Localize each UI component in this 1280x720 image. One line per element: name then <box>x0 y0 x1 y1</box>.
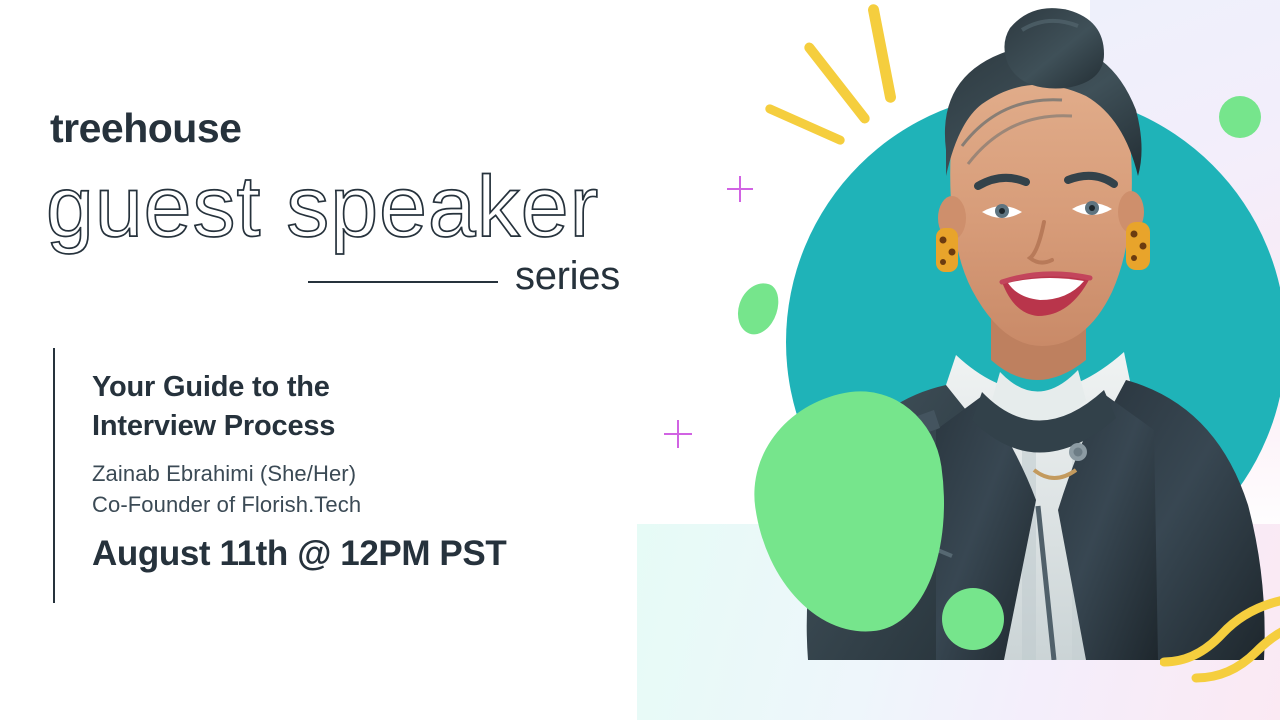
headline-text: guest speaker <box>46 160 599 255</box>
speaker-name: Zainab Ebrahimi (She/Her) <box>92 458 612 489</box>
green-blob-small-shape <box>732 277 785 339</box>
brand-wordmark: treehouse <box>50 108 241 149</box>
speaker-role: Co-Founder of Florish.Tech <box>92 489 612 520</box>
yellow-squiggle-lines <box>1160 578 1280 688</box>
guest-speaker-slide: treehouse guest speaker series Your Guid… <box>0 0 1280 720</box>
series-divider-rule <box>308 281 498 283</box>
talk-title: Your Guide to the Interview Process <box>92 368 612 445</box>
vertical-accent-rule <box>53 348 55 603</box>
headline-outline: guest speaker <box>44 160 664 258</box>
series-label: series <box>515 256 620 296</box>
green-circle-bottom-shape <box>942 588 1004 650</box>
event-datetime: August 11th @ 12PM PST <box>92 535 612 574</box>
magenta-plus-icon <box>664 420 692 448</box>
magenta-plus-icon <box>727 176 753 202</box>
talk-info-block: Your Guide to the Interview Process Zain… <box>92 368 612 573</box>
